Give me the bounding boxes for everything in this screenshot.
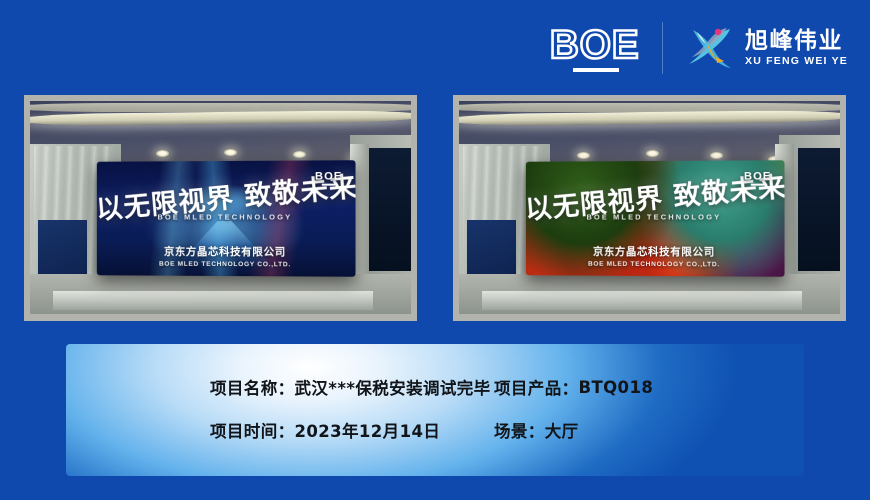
- project-info-grid: 项目名称： 武汉***保税安装调试完毕 项目产品： BTQ018 项目时间： 2…: [66, 344, 804, 476]
- photo-gallery: 以无限视界 致敬未来 BOE MLED TECHNOLOGY 京东方晶芯科技有限…: [24, 95, 846, 321]
- led-slogan-en: BOE MLED TECHNOLOGY: [586, 212, 721, 221]
- boe-wordmark: BOE: [550, 25, 640, 65]
- project-name-label: 项目名称：: [210, 375, 295, 399]
- dark-doorway: [798, 148, 840, 272]
- led-company-cn: 京东方晶芯科技有限公司: [164, 243, 286, 258]
- photo-right-image: 以无限视界 致敬未来 BOE MLED TECHNOLOGY 京东方晶芯科技有限…: [459, 101, 840, 314]
- downlight: [156, 150, 169, 157]
- partner-text: 旭峰伟业 XU FENG WEI YE: [745, 28, 848, 68]
- led-boe-text: BOE: [315, 170, 342, 182]
- project-name-row: 项目名称： 武汉***保税安装调试完毕: [210, 364, 494, 410]
- led-company-cn: 京东方晶芯科技有限公司: [593, 243, 715, 258]
- floor-protection-strip: [53, 291, 373, 310]
- side-display-panel: [467, 220, 517, 275]
- info-spacer-right: [494, 450, 804, 476]
- project-time-row: 项目时间： 2023年12月14日: [210, 410, 494, 450]
- photo-left[interactable]: 以无限视界 致敬未来 BOE MLED TECHNOLOGY 京东方晶芯科技有限…: [24, 95, 417, 321]
- led-boe-logo: BOE: [315, 170, 342, 185]
- boe-logo: BOE: [550, 25, 662, 72]
- scene-value: 大厅: [545, 418, 579, 442]
- project-info-panel: 项目名称： 武汉***保税安装调试完毕 项目产品： BTQ018 项目时间： 2…: [66, 344, 804, 476]
- project-product-row: 项目产品： BTQ018: [494, 364, 804, 410]
- downlight: [646, 150, 659, 157]
- led-company-en: BOE MLED TECHNOLOGY CO.,LTD.: [159, 260, 291, 268]
- project-time-label: 项目时间：: [210, 418, 295, 442]
- brand-header: BOE 旭峰伟业 XU FENG WEI YE: [550, 20, 848, 76]
- scene-label: 场景：: [494, 418, 545, 442]
- downlight: [293, 151, 306, 158]
- xufeng-bird-mark-icon: [683, 24, 735, 72]
- project-product-label: 项目产品：: [494, 375, 579, 399]
- partner-name-en: XU FENG WEI YE: [745, 55, 848, 69]
- boe-underline-bar: [573, 68, 619, 72]
- led-boe-underbar: [322, 184, 335, 186]
- project-name-value: 武汉***保税安装调试完毕: [295, 375, 491, 399]
- floor-protection-strip: [482, 291, 802, 310]
- led-boe-underbar: [751, 184, 764, 186]
- dark-doorway: [369, 148, 411, 272]
- partner-name-cn: 旭峰伟业: [745, 28, 848, 54]
- project-time-value: 2023年12月14日: [295, 418, 441, 442]
- photo-right[interactable]: 以无限视界 致敬未来 BOE MLED TECHNOLOGY 京东方晶芯科技有限…: [453, 95, 846, 321]
- info-spacer-left: [210, 450, 494, 476]
- led-boe-text: BOE: [744, 170, 771, 182]
- logo-divider: [662, 22, 664, 74]
- side-display-panel: [38, 220, 88, 275]
- project-product-value: BTQ018: [579, 378, 654, 397]
- led-boe-logo: BOE: [744, 170, 771, 185]
- led-slogan-en: BOE MLED TECHNOLOGY: [157, 212, 292, 221]
- partner-logo: 旭峰伟业 XU FENG WEI YE: [663, 24, 848, 72]
- scene-row: 场景： 大厅: [494, 410, 804, 450]
- led-video-wall[interactable]: 以无限视界 致敬未来 BOE MLED TECHNOLOGY 京东方晶芯科技有限…: [526, 160, 785, 277]
- led-company-en: BOE MLED TECHNOLOGY CO.,LTD.: [588, 260, 720, 268]
- photo-left-image: 以无限视界 致敬未来 BOE MLED TECHNOLOGY 京东方晶芯科技有限…: [30, 101, 411, 314]
- led-video-wall[interactable]: 以无限视界 致敬未来 BOE MLED TECHNOLOGY 京东方晶芯科技有限…: [97, 160, 356, 277]
